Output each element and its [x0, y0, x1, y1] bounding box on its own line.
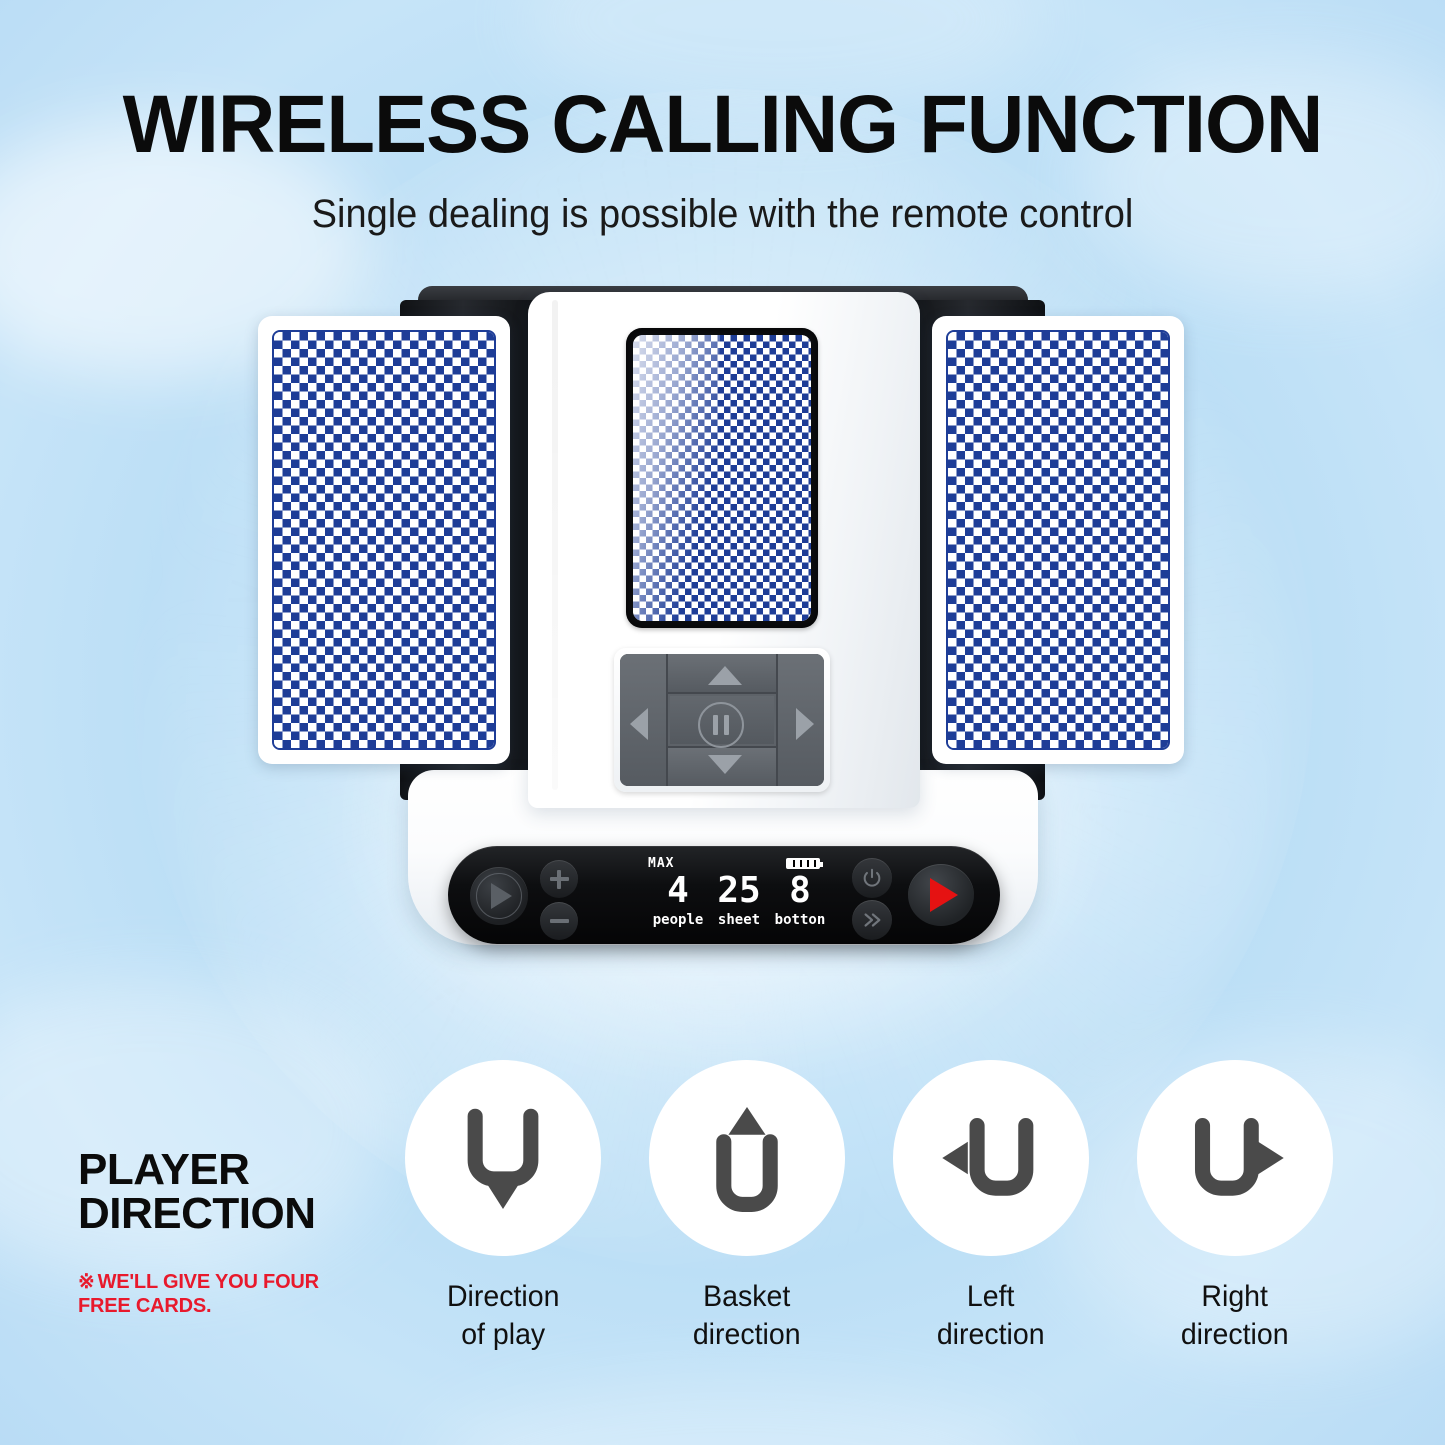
plus-button[interactable] — [540, 860, 578, 898]
minus-button[interactable] — [540, 902, 578, 940]
start-button[interactable] — [908, 864, 974, 926]
power-button[interactable] — [852, 858, 892, 898]
u-shape-up-arrow-icon — [649, 1060, 845, 1256]
card-face — [946, 330, 1170, 750]
battery-full-icon — [786, 858, 820, 869]
lcd-label: people — [653, 913, 704, 927]
player-direction-block: PLAYER DIRECTION ※WE'LL GIVE YOU FOUR FR… — [78, 1148, 378, 1319]
lcd-reading-botton: 8 botton — [775, 873, 826, 927]
direction-item-play[interactable]: Direction of play — [390, 1060, 616, 1353]
playing-card-right — [932, 316, 1184, 764]
player-direction-title: PLAYER DIRECTION — [78, 1148, 378, 1236]
card-in-window — [633, 335, 811, 621]
pause-icon — [698, 702, 744, 748]
lcd-max-label: MAX — [648, 856, 674, 871]
dpad-surface — [620, 654, 824, 786]
card-dealer-device: MAX 4 people 25 sheet 8 botton — [0, 0, 1445, 1000]
direction-caption: Right direction — [1181, 1278, 1289, 1353]
card-face — [272, 330, 496, 750]
lcd-display: MAX 4 people 25 sheet 8 botton — [634, 856, 844, 934]
lcd-reading-sheet: 25 sheet — [717, 873, 760, 927]
direction-icon-row: Direction of play Basket direction Left … — [390, 1060, 1370, 1353]
direction-caption: Left direction — [937, 1278, 1045, 1353]
arrow-up-icon — [708, 666, 742, 685]
arrow-right-icon — [796, 708, 814, 740]
lcd-value: 4 — [667, 873, 689, 909]
caption-line1: Direction — [447, 1278, 559, 1316]
device-column-seam — [552, 300, 558, 790]
caption-line2: direction — [1181, 1316, 1289, 1354]
free-note-line2: FREE CARDS. — [78, 1294, 378, 1318]
direction-item-basket[interactable]: Basket direction — [634, 1060, 860, 1353]
deal-button[interactable] — [470, 867, 528, 925]
player-title-line1: PLAYER — [78, 1148, 378, 1192]
lcd-readings: 4 people 25 sheet 8 botton — [634, 873, 844, 927]
control-panel: MAX 4 people 25 sheet 8 botton — [448, 846, 1000, 944]
card-window — [626, 328, 818, 628]
free-cards-note: ※WE'LL GIVE YOU FOUR FREE CARDS. — [78, 1270, 378, 1319]
caption-line2: direction — [693, 1316, 801, 1354]
u-shape-right-arrow-icon — [1137, 1060, 1333, 1256]
card-back-pattern — [948, 332, 1168, 748]
forward-button[interactable] — [852, 900, 892, 940]
caption-line1: Left — [937, 1278, 1045, 1316]
lcd-value: 25 — [717, 873, 760, 909]
card-back-pattern — [633, 335, 811, 621]
caption-line1: Right — [1181, 1278, 1289, 1316]
arrow-left-icon — [630, 708, 648, 740]
direction-caption: Basket direction — [693, 1278, 801, 1353]
caption-line2: of play — [447, 1316, 559, 1354]
lcd-status-row: MAX — [634, 856, 844, 872]
direction-item-left[interactable]: Left direction — [878, 1060, 1104, 1353]
lcd-label: sheet — [718, 913, 760, 927]
direction-caption: Direction of play — [447, 1278, 559, 1353]
caption-line2: direction — [937, 1316, 1045, 1354]
player-title-line2: DIRECTION — [78, 1192, 378, 1236]
lcd-value: 8 — [789, 873, 811, 909]
playing-card-left — [258, 316, 510, 764]
direction-item-right[interactable]: Right direction — [1122, 1060, 1348, 1353]
u-shape-down-arrow-icon — [405, 1060, 601, 1256]
free-note-line1: WE'LL GIVE YOU FOUR — [98, 1271, 319, 1293]
lcd-label: botton — [775, 913, 826, 927]
remote-dpad[interactable] — [614, 648, 830, 792]
caption-line1: Basket — [693, 1278, 801, 1316]
lcd-reading-people: 4 people — [653, 873, 704, 927]
card-back-pattern — [274, 332, 494, 748]
arrow-down-icon — [708, 755, 742, 774]
reference-mark-icon: ※ — [78, 1271, 95, 1293]
u-shape-left-arrow-icon — [893, 1060, 1089, 1256]
